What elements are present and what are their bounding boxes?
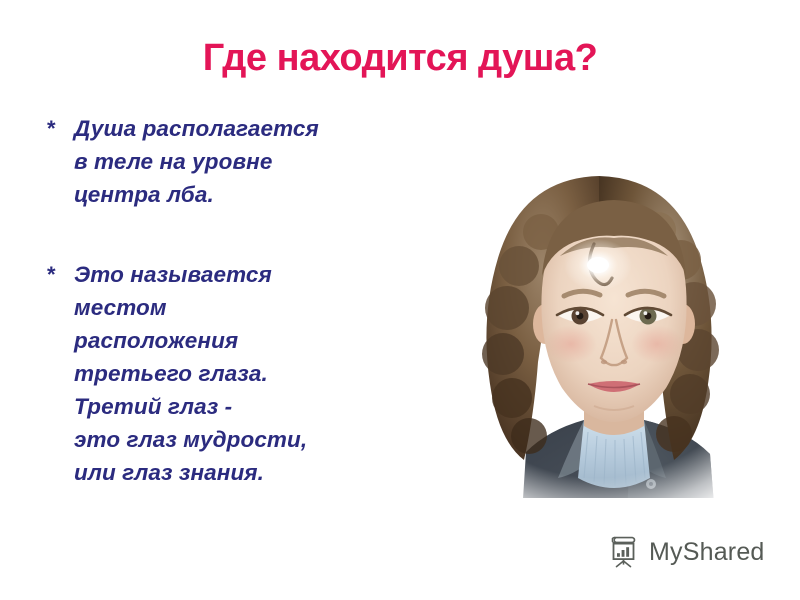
bullet-2-line-5: Третий глаз - xyxy=(74,390,394,423)
bullet-marker-icon: * xyxy=(47,258,56,291)
page-title: Где находится душа? xyxy=(0,36,800,80)
bullet-2-line-3: расположения xyxy=(74,324,394,357)
portrait-illustration xyxy=(398,148,800,530)
myshared-watermark: MyShared xyxy=(606,535,765,569)
bullet-2-line-7: или глаз знания. xyxy=(74,456,394,489)
girl-portrait-photo xyxy=(398,148,800,530)
bullet-item-2: * Это называется местом расположения тре… xyxy=(44,258,394,489)
slide-canvas: Где находится душа? * Душа располагается… xyxy=(0,0,800,600)
slide-body-text: * Душа располагается в теле на уровне це… xyxy=(44,112,394,489)
watermark-label: MyShared xyxy=(649,538,765,566)
bullet-2-line-6: это глаз мудрости, xyxy=(74,423,394,456)
bullet-1-line-1: Душа располагается xyxy=(74,112,394,145)
bullet-2-line-4: третьего глаза. xyxy=(74,357,394,390)
bullet-item-1: * Душа располагается в теле на уровне це… xyxy=(44,112,394,211)
bullet-2-line-2: местом xyxy=(74,291,394,324)
bullet-marker-icon: * xyxy=(47,112,56,145)
bullet-2-line-1: Это называется xyxy=(74,258,394,291)
bullet-1-line-2: в теле на уровне xyxy=(74,145,394,178)
presentation-chart-icon xyxy=(606,535,640,569)
bullet-1-line-3: центра лба. xyxy=(74,178,394,211)
